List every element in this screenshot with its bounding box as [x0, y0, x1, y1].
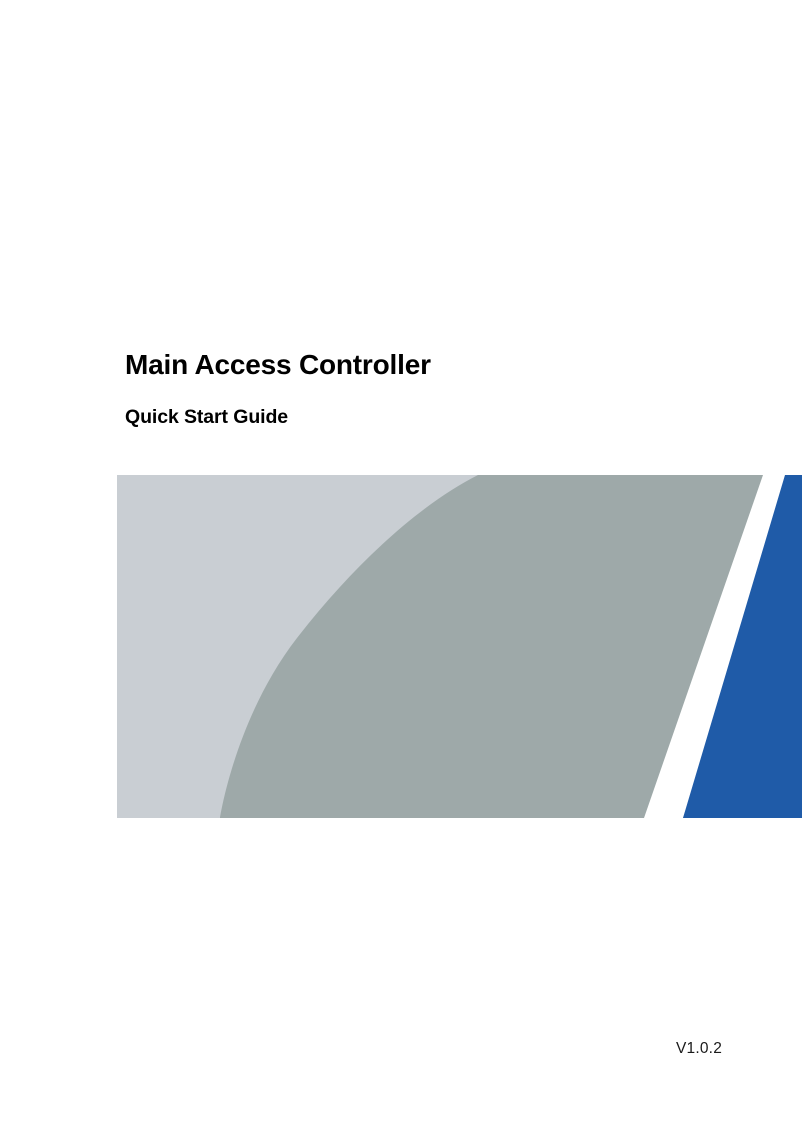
cover-banner-graphic: [117, 475, 802, 818]
page-title: Main Access Controller: [125, 348, 685, 382]
page-subtitle: Quick Start Guide: [125, 382, 685, 430]
version-label: V1.0.2: [676, 1040, 722, 1058]
cover-banner-svg: [117, 475, 802, 818]
cover-page: Main Access Controller Quick Start Guide…: [0, 0, 802, 1134]
title-block: Main Access Controller Quick Start Guide: [125, 348, 685, 430]
